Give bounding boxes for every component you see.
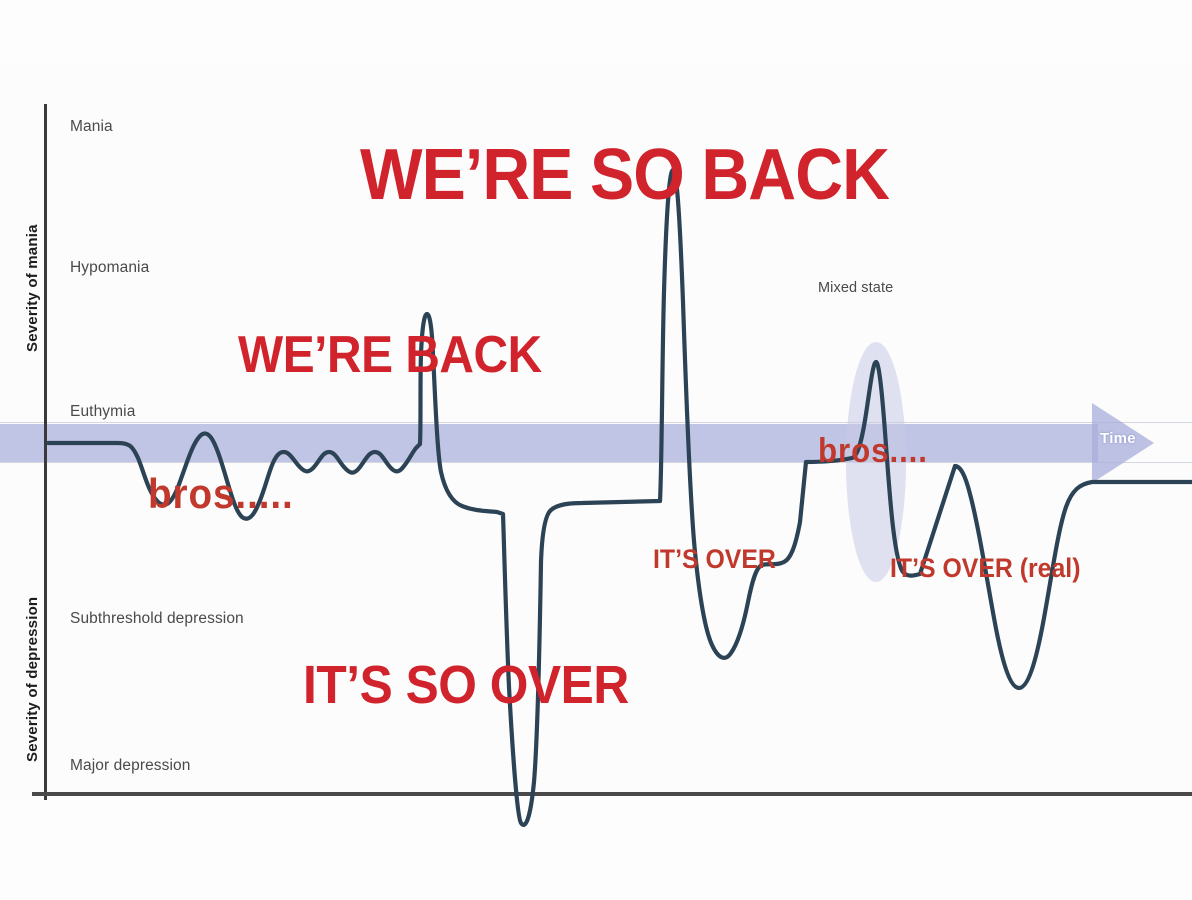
caption-its-over: IT’S OVER [653, 544, 776, 575]
caption-bros-first: bros..... [148, 470, 294, 518]
caption-its-over-real: IT’S OVER (real) [890, 553, 1080, 584]
caption-were-so-back: WE’RE SO BACK [360, 134, 889, 216]
caption-its-so-over: IT’S SO OVER [303, 654, 629, 716]
meme-image: Time Severity of mania Severity of depre… [0, 0, 1192, 900]
chart-photo: Time Severity of mania Severity of depre… [0, 62, 1192, 800]
bipolar-mood-chart: Time Severity of mania Severity of depre… [0, 62, 1192, 800]
caption-bros-second: bros.... [818, 432, 928, 471]
caption-were-back: WE’RE BACK [238, 325, 542, 385]
